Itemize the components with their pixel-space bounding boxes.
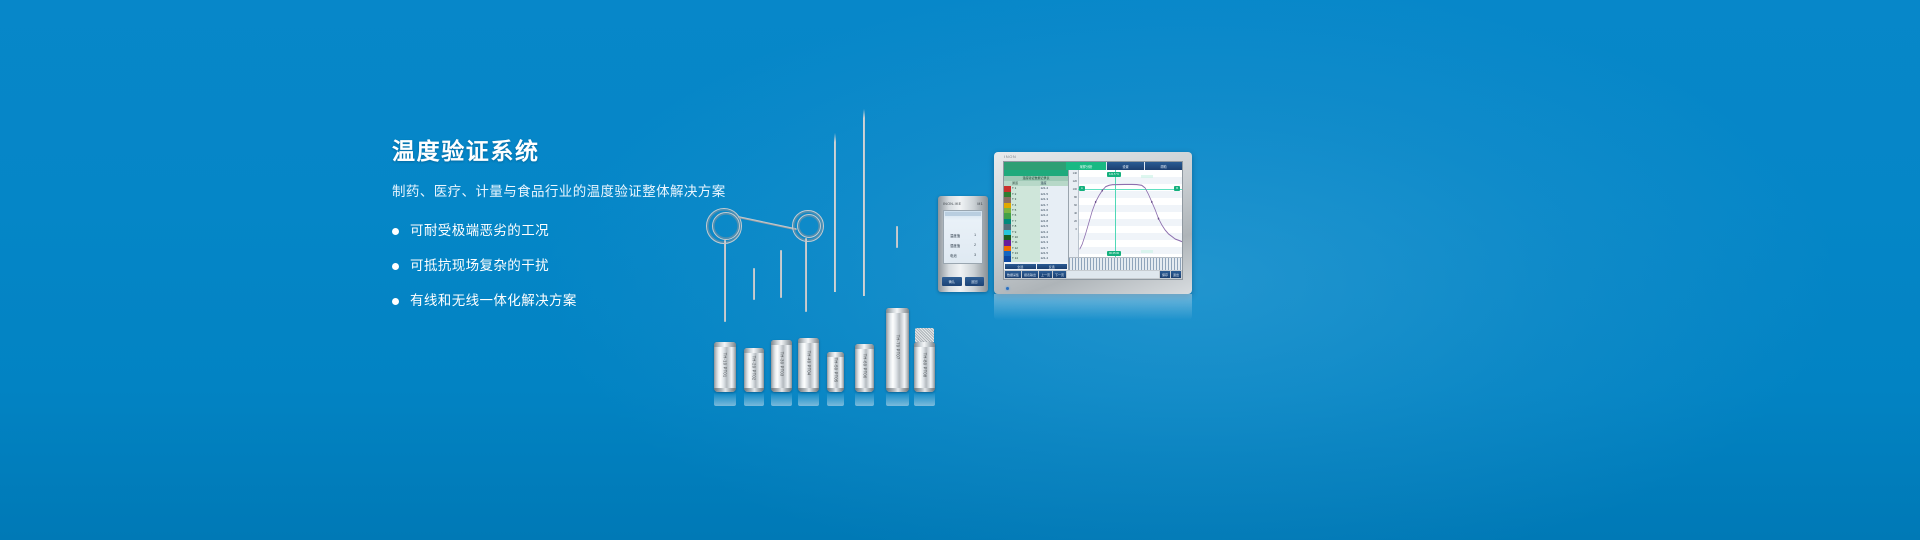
logger-foot [886,388,909,392]
coiled-cable-icon [797,214,821,238]
y-tick: 60 [1074,204,1077,207]
product-reflection [886,392,909,406]
list-item: 湿度值 2 [950,243,976,248]
exit-button[interactable]: 退出 [1171,271,1181,278]
handheld-key-confirm[interactable]: 确认 [942,277,962,286]
temperature-chart[interactable]: 140 120 100 80 60 40 20 0 [1069,170,1182,257]
coiled-cable-icon [712,212,740,240]
handheld-brand: INON-IKE [943,202,961,206]
data-logger: TH-70 PT07 [886,308,909,392]
monitor-screen: 采样分析 设置 帮助 温度验证数据记录表 通道 温度 T 1121.4 [1003,161,1183,280]
probe-stem [896,226,898,248]
logger-label: TH-70 PT07 [895,334,900,359]
logger-cap [914,342,935,347]
report-output-button[interactable]: 报表输出 [1022,271,1038,278]
logger-label: TH-50 PT05 [833,358,838,383]
y-tick: 20 [1074,220,1077,223]
monitor-reflection [994,294,1192,320]
handheld-reader[interactable]: INON-IKE M1 温度值 1 湿度值 2 电池 3 确认 [938,196,988,292]
hero-banner: 温度验证系统 制药、医疗、计量与食品行业的温度验证整体解决方案 可耐受极端恶劣的… [0,0,1920,540]
logger-foot [771,388,792,392]
cell-channel: T 14 [1011,256,1040,261]
data-logger: TH-40 PT04 [798,338,819,392]
handheld-key-back[interactable]: 返回 [965,277,985,286]
save-button[interactable]: 保存 [1160,271,1170,278]
command-bar: 数据采集 报表输出 上一页 下一页 保存 退出 [1004,270,1182,279]
list-item: 温度值 1 [950,233,976,238]
screen-body: 温度验证数据记录表 通道 温度 T 1121.4 T 2121.5 T 3121… [1004,170,1182,270]
logger-label: TH-60 PT06 [862,354,867,379]
data-logger: TH-10 PT01 [714,342,736,392]
logger-label: TH-80 PT08 [922,353,927,378]
bullet-dot-icon [392,228,399,235]
prev-page-button[interactable]: 上一页 [1039,271,1052,278]
color-swatch [1004,256,1011,261]
handheld-readout-list: 温度值 1 湿度值 2 电池 3 [950,233,976,263]
next-page-button[interactable]: 下一页 [1053,271,1066,278]
bullet-dot-icon [392,298,399,305]
logger-label: TH-20 PT02 [752,356,757,381]
logger-foot [714,388,736,392]
table-footer-buttons: 全选 反选 [1004,263,1068,270]
data-logger: TH-60 PT06 [855,344,874,392]
list-item: 电池 3 [950,253,976,258]
toolbar-title-cell [1004,162,1066,170]
logger-label: TH-30 PT03 [779,352,784,377]
handheld-screen: 温度值 1 湿度值 2 电池 3 [943,210,983,264]
logger-cap [798,338,819,343]
data-point [1095,201,1097,203]
logger-cap [771,340,792,345]
data-logger: TH-50 PT05 [827,352,844,392]
product-reflection [714,392,736,406]
channel-table[interactable]: T 1121.4 T 2121.5 T 3121.3 T 4121.7 T 51… [1004,186,1068,263]
logger-label: TH-10 PT01 [723,353,728,378]
data-logger: TH-30 PT03 [771,340,792,392]
readout-label: 湿度值 [950,243,960,248]
handheld-keypad: 确认 返回 [942,277,984,286]
power-led-icon [1006,287,1009,290]
tab-help[interactable]: 帮助 [1145,162,1182,170]
product-reflection [855,392,874,406]
y-tick: 100 [1073,188,1077,191]
probe-stem [753,268,755,300]
logger-cap [714,342,736,347]
logger-cap [827,352,844,357]
data-point [1151,201,1153,203]
feature-label: 可抵抗现场复杂的干扰 [410,257,549,275]
probe-stem [805,238,807,312]
needle-probe [863,118,865,296]
data-logger: TH-80 PT08 [914,342,935,392]
monitor-brand: INON [1004,154,1016,159]
probe-stem [724,240,726,322]
product-reflection [827,392,844,406]
table-row[interactable]: T 14121.4 [1004,256,1068,261]
cell-temp: 121.4 [1040,256,1069,261]
channel-table-panel: 温度验证数据记录表 通道 温度 T 1121.4 T 2121.5 T 3121… [1004,170,1069,270]
logger-foot [914,388,935,392]
data-point [1158,217,1160,219]
chart-panel: 140 120 100 80 60 40 20 0 [1069,170,1182,270]
readout-label: 电池 [950,253,957,258]
tab-settings[interactable]: 设置 [1107,162,1144,170]
product-reflection [914,392,935,406]
toolbar: 采样分析 设置 帮助 [1004,162,1182,170]
y-tick: 140 [1073,172,1077,175]
probe-wire [738,216,797,230]
tab-sampling[interactable]: 采样分析 [1066,162,1106,170]
logger-cap [886,308,909,313]
logger-foot [855,388,874,392]
data-logger: TH-20 PT02 [744,348,764,392]
needle-probe [834,142,836,292]
product-reflection [744,392,764,406]
logger-foot [798,388,819,392]
y-tick: 120 [1073,180,1077,183]
readout-value: 1 [974,233,976,238]
horizontal-scrollbar[interactable] [1069,257,1182,270]
logger-foot [744,388,764,392]
temperature-curve [1080,184,1182,249]
data-collect-button[interactable]: 数据采集 [1005,271,1021,278]
command-bar-spacer [1067,271,1159,278]
y-tick: 0 [1076,228,1077,231]
validation-monitor: INON 采样分析 设置 帮助 温度验证数据记录表 通道 温度 [994,152,1192,294]
logger-foot [827,388,844,392]
y-tick: 80 [1074,196,1077,199]
handheld-brand-row: INON-IKE M1 [938,202,988,206]
product-reflection [771,392,792,406]
logger-cap [855,344,874,349]
logger-cap [744,348,764,353]
handheld-titlebar [945,212,981,216]
logger-label: TH-40 PT04 [806,350,811,375]
y-tick: 40 [1074,212,1077,215]
invert-selection-button[interactable]: 反选 [1037,264,1068,269]
feature-label: 有线和无线一体化解决方案 [410,292,577,310]
feature-label: 可耐受极端恶劣的工况 [410,222,549,240]
readout-value: 2 [974,243,976,248]
readout-label: 温度值 [950,233,960,238]
probe-stem [780,250,782,298]
bullet-dot-icon [392,263,399,270]
sintered-filter-cap [915,328,934,342]
data-point [1102,189,1104,191]
curve-svg [1078,170,1182,257]
readout-value: 3 [974,253,976,258]
select-all-button[interactable]: 全选 [1005,264,1036,269]
handheld-model: M1 [977,202,983,206]
product-reflection [798,392,819,406]
